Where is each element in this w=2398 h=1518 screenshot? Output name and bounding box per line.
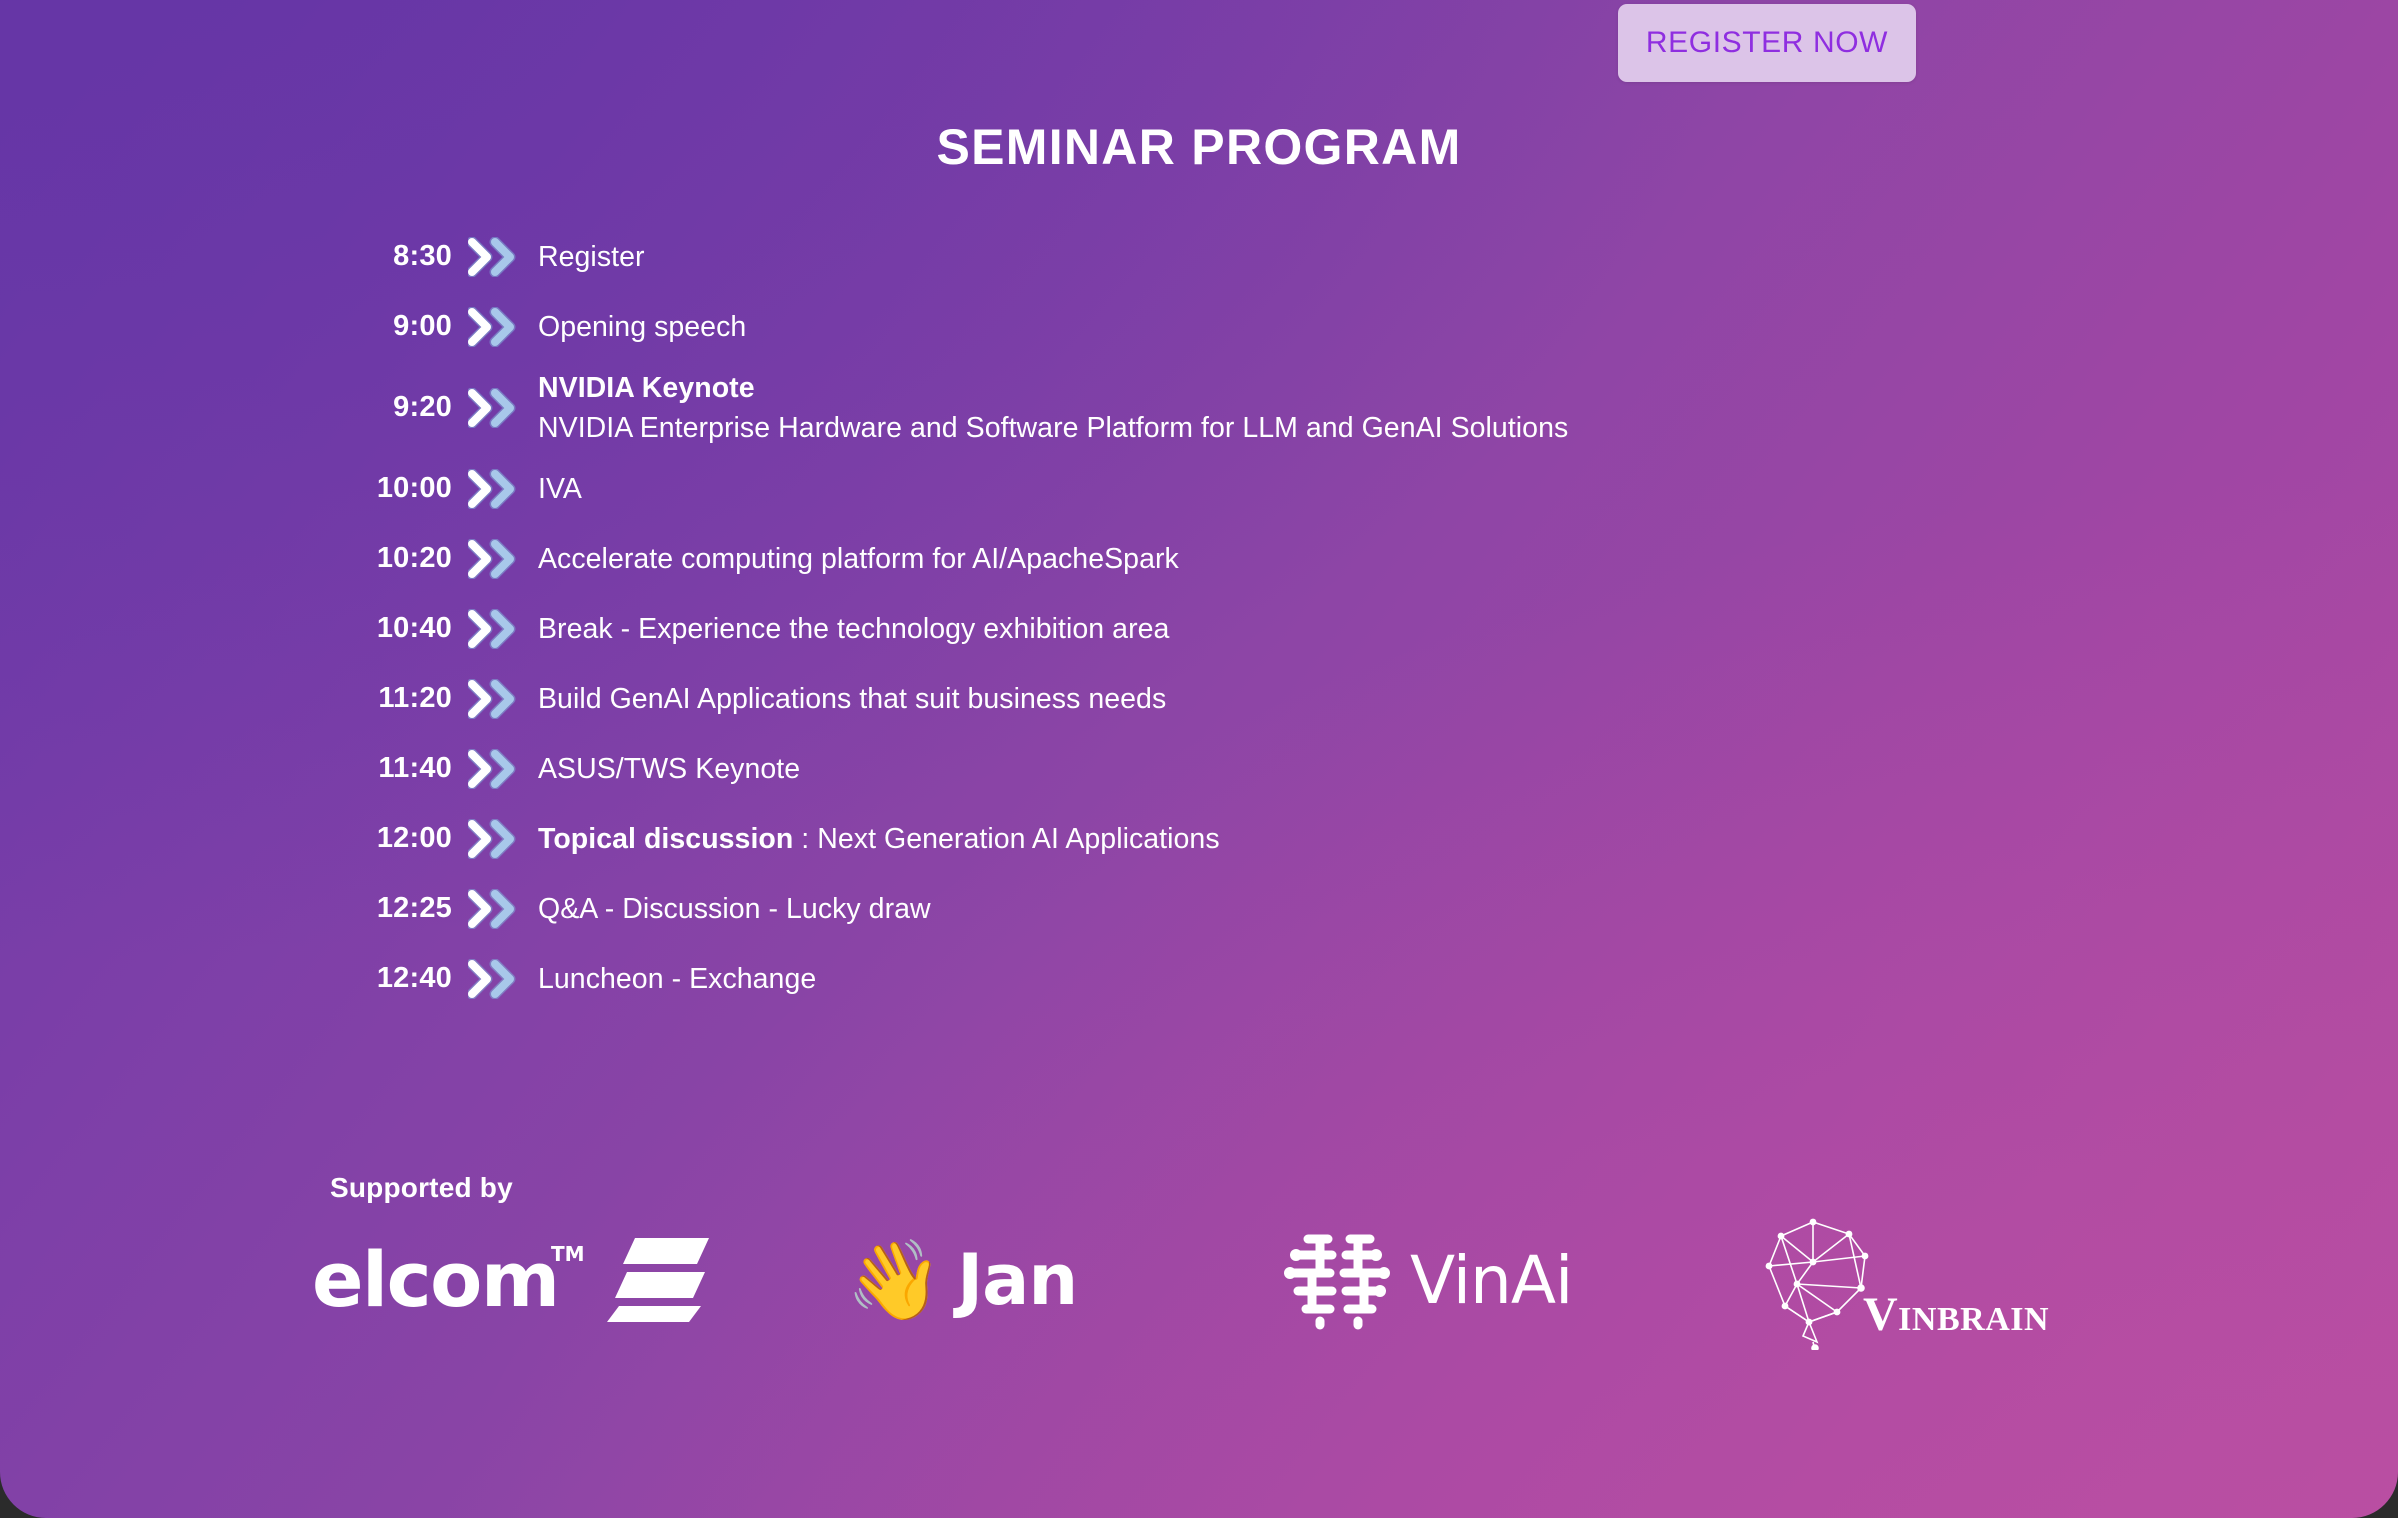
schedule-title: Break - Experience the technology exhibi… <box>538 613 1169 645</box>
schedule-description: Topical discussion : Next Generation AI … <box>538 819 2338 859</box>
schedule-row: 8:30Register <box>330 222 2338 292</box>
double-chevron-right-icon <box>452 539 538 579</box>
sponsor-logo-elcom: elcom TM <box>312 1210 711 1350</box>
schedule-row: 12:00Topical discussion : Next Generatio… <box>330 804 2338 874</box>
double-chevron-right-icon <box>452 749 538 789</box>
jan-text: Jan <box>957 1239 1077 1321</box>
sponsor-logo-row: elcom TM 👋 Jan <box>312 1210 2398 1350</box>
schedule-row: 10:00IVA <box>330 454 2338 524</box>
schedule-row: 11:40ASUS/TWS Keynote <box>330 734 2338 804</box>
schedule-description: Q&A - Discussion - Lucky draw <box>538 889 2338 929</box>
schedule-description: Accelerate computing platform for AI/Apa… <box>538 539 2338 579</box>
schedule-description: NVIDIA KeynoteNVIDIA Enterprise Hardware… <box>538 368 2338 449</box>
schedule-time: 9:20 <box>330 392 452 424</box>
schedule-time: 12:25 <box>330 893 452 925</box>
schedule-description: Luncheon - Exchange <box>538 959 2338 999</box>
vinbrain-text-rest: INBRAIN <box>1898 1301 2049 1338</box>
double-chevron-right-icon <box>452 819 538 859</box>
schedule-time: 11:40 <box>330 753 452 785</box>
double-chevron-right-icon <box>452 679 538 719</box>
elcom-text: elcom <box>312 1235 559 1324</box>
double-chevron-right-icon <box>452 237 538 277</box>
schedule-title: ASUS/TWS Keynote <box>538 753 800 785</box>
schedule-title: Luncheon - Exchange <box>538 963 816 995</box>
schedule-title: Accelerate computing platform for AI/Apa… <box>538 543 1179 575</box>
sponsor-logo-vinai: VinAi <box>1280 1210 1572 1350</box>
vinbrain-wordmark: VINBRAIN <box>1863 1287 2049 1342</box>
schedule-subtitle: NVIDIA Enterprise Hardware and Software … <box>538 408 2338 448</box>
schedule-row: 12:40Luncheon - Exchange <box>330 944 2338 1014</box>
schedule-time: 11:20 <box>330 683 452 715</box>
schedule-description: ASUS/TWS Keynote <box>538 749 2338 789</box>
schedule-title: Opening speech <box>538 311 746 343</box>
schedule-time: 8:30 <box>330 241 452 273</box>
schedule-title: Register <box>538 241 645 273</box>
schedule-row: 12:25Q&A - Discussion - Lucky draw <box>330 874 2338 944</box>
trademark-icon: TM <box>551 1244 585 1264</box>
schedule-description: Register <box>538 237 2338 277</box>
double-chevron-right-icon <box>452 307 538 347</box>
schedule-time: 10:40 <box>330 613 452 645</box>
schedule-description: Build GenAI Applications that suit busin… <box>538 679 2338 719</box>
register-now-button[interactable]: REGISTER NOW <box>1618 4 1916 82</box>
schedule-row: 9:20NVIDIA KeynoteNVIDIA Enterprise Hard… <box>330 362 2338 454</box>
schedule-time: 12:00 <box>330 823 452 855</box>
double-chevron-right-icon <box>452 469 538 509</box>
page-title: SEMINAR PROGRAM <box>0 118 2398 176</box>
schedule-title-trailing: : Next Generation AI Applications <box>793 823 1219 855</box>
seminar-program-slide: REGISTER NOW SEMINAR PROGRAM 8:30Registe… <box>0 0 2398 1518</box>
sponsor-logo-vinbrain: VINBRAIN <box>1737 1210 2077 1350</box>
double-chevron-right-icon <box>452 889 538 929</box>
vinbrain-text-cap: V <box>1863 1288 1898 1341</box>
double-chevron-right-icon <box>452 609 538 649</box>
waving-hand-icon: 👋 <box>846 1241 943 1319</box>
schedule-row: 10:40Break - Experience the technology e… <box>330 594 2338 664</box>
vinai-network-icon <box>1280 1221 1398 1339</box>
schedule-time: 9:00 <box>330 311 452 343</box>
schedule-description: IVA <box>538 469 2338 509</box>
double-chevron-right-icon <box>452 388 538 428</box>
elcom-e-mark <box>605 1234 711 1326</box>
schedule-title: IVA <box>538 473 582 505</box>
schedule-description: Break - Experience the technology exhibi… <box>538 609 2338 649</box>
sponsor-logo-jan: 👋 Jan <box>846 1210 1077 1350</box>
schedule-title: NVIDIA Keynote <box>538 372 755 404</box>
double-chevron-right-icon <box>452 959 538 999</box>
schedule-list: 8:30Register9:00Opening speech9:20NVIDIA… <box>330 222 2338 1014</box>
schedule-description: Opening speech <box>538 307 2338 347</box>
schedule-title: Topical discussion <box>538 823 793 855</box>
schedule-time: 10:00 <box>330 473 452 505</box>
schedule-time: 10:20 <box>330 543 452 575</box>
vinai-text: VinAi <box>1410 1242 1572 1319</box>
schedule-title: Build GenAI Applications that suit busin… <box>538 683 1166 715</box>
schedule-row: 9:00Opening speech <box>330 292 2338 362</box>
schedule-row: 11:20Build GenAI Applications that suit … <box>330 664 2338 734</box>
elcom-wordmark: elcom TM <box>312 1242 559 1318</box>
register-button-wrap: REGISTER NOW <box>1618 4 1916 82</box>
supported-by-label: Supported by <box>330 1172 513 1204</box>
schedule-row: 10:20Accelerate computing platform for A… <box>330 524 2338 594</box>
schedule-title: Q&A - Discussion - Lucky draw <box>538 893 931 925</box>
schedule-time: 12:40 <box>330 963 452 995</box>
